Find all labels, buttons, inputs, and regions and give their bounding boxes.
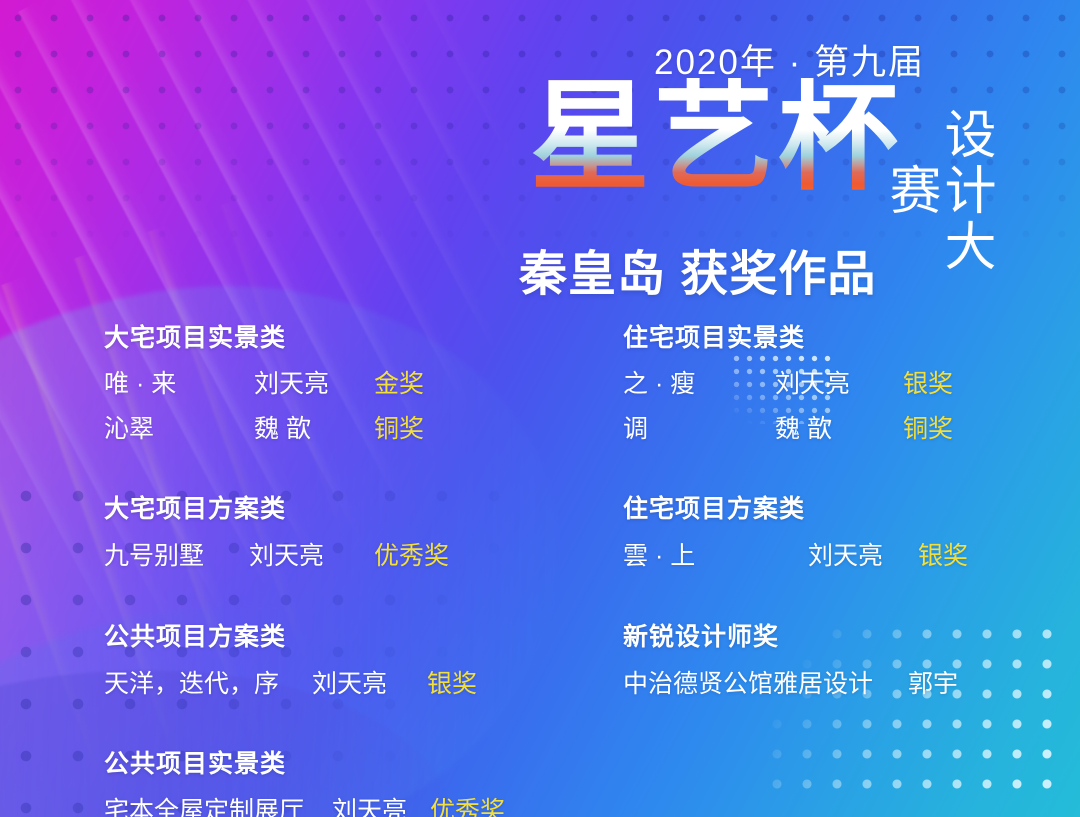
- section-title: 公共项目方案类: [104, 617, 604, 653]
- designer-name: 魏 歆: [254, 409, 374, 445]
- right-award-column: 住宅项目实景类 之 · 瘦 刘天亮 银奖 调 魏 歆 铜奖 住宅项目方案类 雲 …: [623, 318, 1063, 700]
- award-row: 中治德贤公馆雅居设计 郭宇: [623, 664, 1063, 700]
- designer-name: 刘天亮: [249, 536, 374, 572]
- designer-name: 刘天亮: [775, 364, 903, 400]
- award-row: 唯 · 来 刘天亮 金奖: [104, 364, 604, 400]
- prize-label: 优秀奖: [374, 536, 449, 572]
- award-row: 宅本全屋定制展厅 刘天亮 优秀奖: [104, 791, 604, 817]
- prize-label: 金奖: [374, 364, 424, 400]
- work-title: 沁翠: [104, 409, 254, 445]
- left-award-column: 大宅项目实景类 唯 · 来 刘天亮 金奖 沁翠 魏 歆 铜奖 大宅项目方案类 九…: [104, 318, 604, 817]
- work-title: 九号别墅: [104, 536, 249, 572]
- award-section: 公共项目实景类 宅本全屋定制展厅 刘天亮 优秀奖: [104, 744, 604, 817]
- designer-name: 刘天亮: [254, 364, 374, 400]
- page-title: 星艺杯: [530, 78, 902, 196]
- designer-name: 刘天亮: [312, 664, 427, 700]
- designer-name: 魏 歆: [775, 409, 903, 445]
- prize-label: 铜奖: [903, 409, 953, 445]
- section-title: 新锐设计师奖: [623, 617, 1063, 653]
- section-title: 住宅项目方案类: [623, 489, 1063, 525]
- award-section: 住宅项目实景类 之 · 瘦 刘天亮 银奖 调 魏 歆 铜奖: [623, 318, 1063, 445]
- prize-label: 银奖: [903, 364, 953, 400]
- subtitle: 秦皇岛 获奖作品: [519, 234, 876, 304]
- award-section: 公共项目方案类 天洋，迭代，序 刘天亮 银奖: [104, 617, 604, 700]
- award-section: 大宅项目实景类 唯 · 来 刘天亮 金奖 沁翠 魏 歆 铜奖: [104, 318, 604, 445]
- award-row: 沁翠 魏 歆 铜奖: [104, 409, 604, 445]
- award-section: 住宅项目方案类 雲 · 上 刘天亮 银奖: [623, 489, 1063, 572]
- award-row: 九号别墅 刘天亮 优秀奖: [104, 536, 604, 572]
- section-title: 大宅项目方案类: [104, 489, 604, 525]
- award-row: 雲 · 上 刘天亮 银奖: [623, 536, 1063, 572]
- vertical-subtitle: 设计大赛: [922, 82, 992, 300]
- prize-label: 铜奖: [374, 409, 424, 445]
- award-row: 天洋，迭代，序 刘天亮 银奖: [104, 664, 604, 700]
- section-title: 住宅项目实景类: [623, 318, 1063, 354]
- work-title: 宅本全屋定制展厅: [104, 791, 332, 817]
- award-row: 之 · 瘦 刘天亮 银奖: [623, 364, 1063, 400]
- prize-label: 银奖: [918, 536, 968, 572]
- prize-label: 优秀奖: [430, 791, 505, 817]
- award-poster: 2020年 · 第九届 星艺杯 设计大赛 秦皇岛 获奖作品 大宅项目实景类 唯 …: [0, 0, 1080, 817]
- section-title: 大宅项目实景类: [104, 318, 604, 354]
- work-title: 唯 · 来: [104, 364, 254, 400]
- work-title: 中治德贤公馆雅居设计: [623, 664, 908, 700]
- designer-name: 刘天亮: [332, 791, 430, 817]
- prize-label: 银奖: [427, 664, 477, 700]
- work-title: 之 · 瘦: [623, 364, 775, 400]
- award-section: 新锐设计师奖 中治德贤公馆雅居设计 郭宇: [623, 617, 1063, 700]
- designer-name: 郭宇: [908, 664, 958, 700]
- designer-name: 刘天亮: [808, 536, 918, 572]
- award-section: 大宅项目方案类 九号别墅 刘天亮 优秀奖: [104, 489, 604, 572]
- section-title: 公共项目实景类: [104, 744, 604, 780]
- work-title: 调: [623, 409, 775, 445]
- work-title: 天洋，迭代，序: [104, 664, 312, 700]
- work-title: 雲 · 上: [623, 536, 808, 572]
- award-row: 调 魏 歆 铜奖: [623, 409, 1063, 445]
